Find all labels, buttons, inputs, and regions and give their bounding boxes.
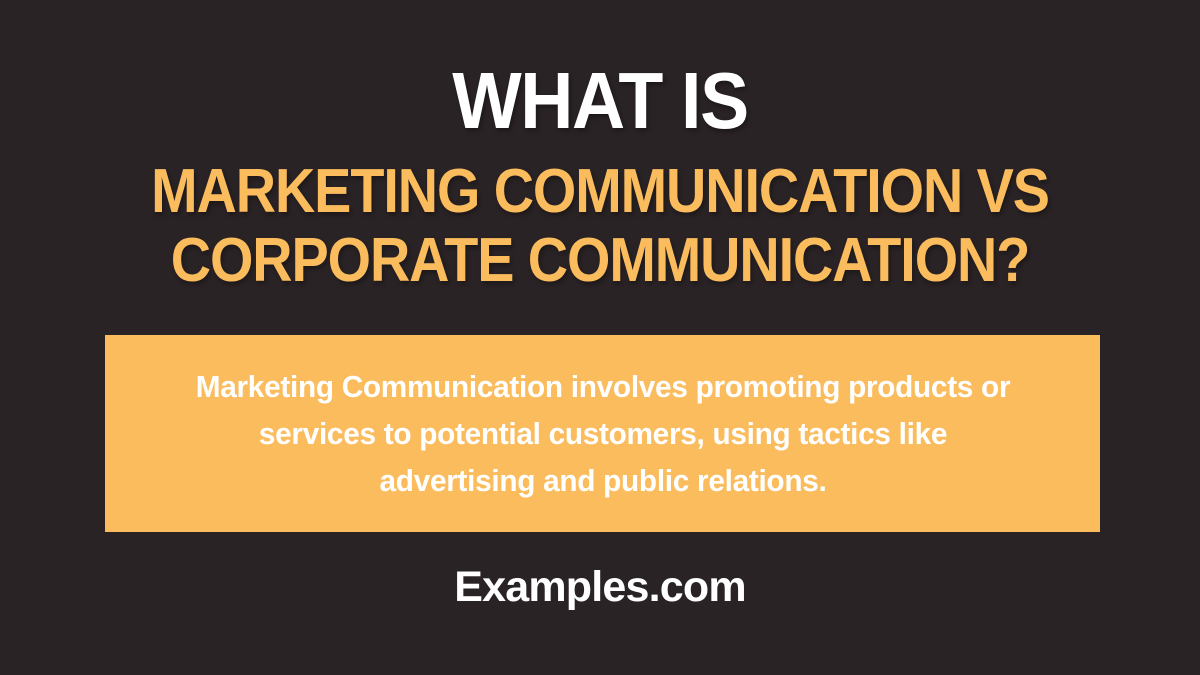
page-subtitle-line-2: CORPORATE COMMUNICATION? <box>60 227 1140 294</box>
heading-block: WHAT IS MARKETING COMMUNICATION VS CORPO… <box>0 62 1200 294</box>
definition-text: Marketing Communication involves promoti… <box>180 363 1025 504</box>
brand-wordmark: Examples.com <box>0 562 1200 612</box>
page-subtitle-line-1: MARKETING COMMUNICATION VS <box>60 158 1140 225</box>
definition-callout-box: Marketing Communication involves promoti… <box>105 335 1100 532</box>
page-title: WHAT IS <box>48 62 1152 140</box>
slide-canvas: WHAT IS MARKETING COMMUNICATION VS CORPO… <box>0 0 1200 675</box>
